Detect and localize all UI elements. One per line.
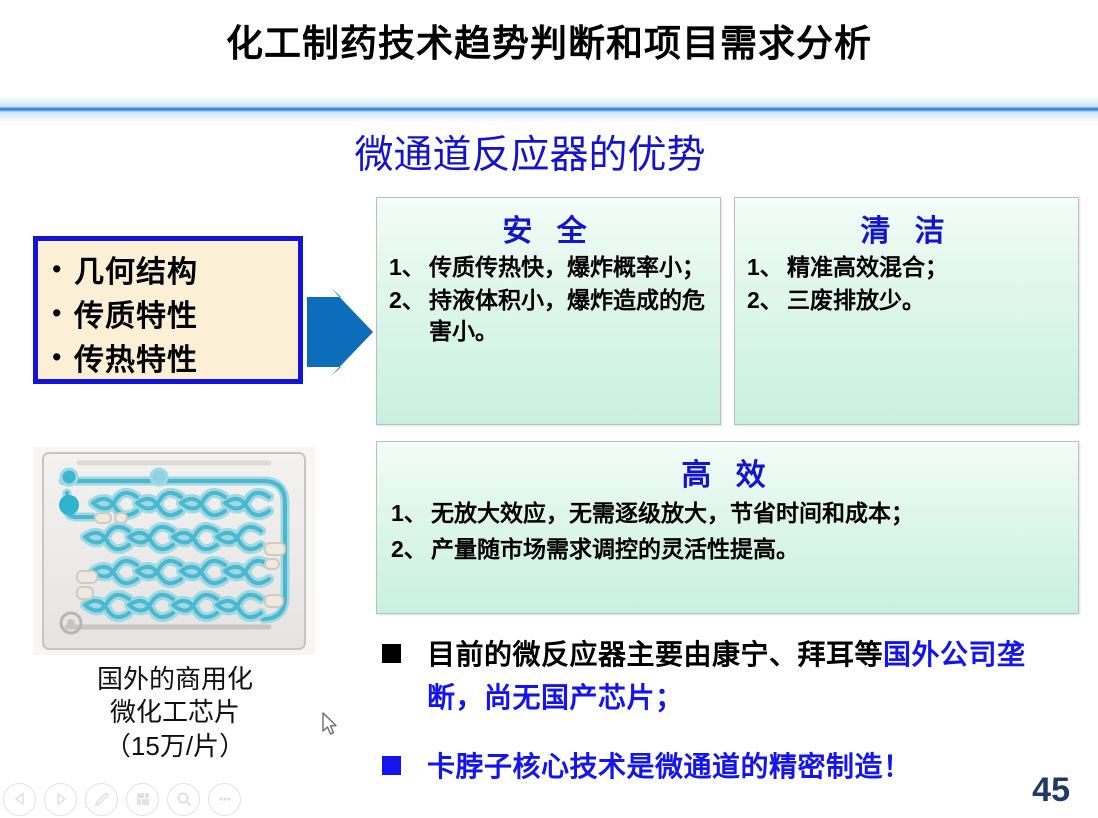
bullet-text: 卡脖子核心技术是微通道的精密制造！ xyxy=(427,745,912,788)
advantage-card-efficient: 高 效 1、 无放大效应，无需逐级放大，节省时间和成本； 2、 产量随市场需求调… xyxy=(376,441,1079,614)
page-number: 45 xyxy=(1032,771,1070,810)
caption-line: 国外的商用化 xyxy=(20,663,330,696)
advantage-list: 1、 无放大效应，无需逐级放大，节省时间和成本； 2、 产量随市场需求调控的灵活… xyxy=(377,496,1078,566)
property-label: 传热特性 xyxy=(74,335,198,379)
item-text: 持液体积小，爆炸造成的危害小。 xyxy=(429,287,705,345)
bullet-monopoly: 目前的微反应器主要由康宁、拜耳等国外公司垄断，尚无国产芯片； xyxy=(382,633,1062,720)
more-options-button[interactable] xyxy=(208,783,241,816)
item-text: 精准高效混合； xyxy=(787,254,948,280)
slides-grid-button[interactable] xyxy=(126,783,159,816)
item-number: 2、 xyxy=(391,532,427,567)
next-slide-button[interactable] xyxy=(44,783,77,816)
more-options-icon xyxy=(216,790,234,808)
advantage-title: 清 洁 xyxy=(735,206,1078,250)
right-arrow-icon xyxy=(305,283,375,381)
list-item: 1、 精准高效混合； xyxy=(747,252,1068,284)
property-label: 几何结构 xyxy=(74,247,198,291)
bullet-text-black: 目前的微反应器主要由康宁、拜耳等 xyxy=(427,639,883,670)
microchannel-chip-image xyxy=(33,447,315,655)
slides-grid-icon xyxy=(134,790,152,808)
advantage-card-safety: 安 全 1、 传质传热快，爆炸概率小； 2、 持液体积小，爆炸造成的危害小。 xyxy=(376,197,721,425)
previous-slide-icon xyxy=(12,791,28,807)
chip-caption: 国外的商用化 微化工芯片 （15万/片） xyxy=(20,663,330,763)
previous-slide-button[interactable] xyxy=(3,783,36,816)
player-toolbar xyxy=(0,780,265,818)
title-divider xyxy=(0,96,1098,122)
square-bullet-icon xyxy=(382,644,401,663)
item-number: 2、 xyxy=(389,285,425,317)
item-number: 1、 xyxy=(747,252,783,284)
list-item: • 传质特性 xyxy=(38,291,298,335)
item-text: 产量随市场需求调控的灵活性提高。 xyxy=(431,536,799,562)
advantage-list: 1、 传质传热快，爆炸概率小； 2、 持液体积小，爆炸造成的危害小。 xyxy=(377,252,720,348)
list-item: • 传热特性 xyxy=(38,335,298,379)
item-number: 1、 xyxy=(389,252,425,284)
property-label: 传质特性 xyxy=(74,291,198,335)
item-number: 1、 xyxy=(391,496,427,531)
pen-icon xyxy=(93,790,111,808)
bullet-icon: • xyxy=(52,300,74,327)
list-item: 2、 三废排放少。 xyxy=(747,285,1068,317)
list-item: • 几何结构 xyxy=(38,247,298,291)
bullet-text: 目前的微反应器主要由康宁、拜耳等国外公司垄断，尚无国产芯片； xyxy=(427,633,1062,720)
item-text: 三废排放少。 xyxy=(787,287,925,313)
list-item: 2、 产量随市场需求调控的灵活性提高。 xyxy=(391,532,1068,567)
pen-button[interactable] xyxy=(85,783,118,816)
bullet-icon: • xyxy=(52,256,74,283)
next-slide-icon xyxy=(53,791,69,807)
section-subtitle: 微通道反应器的优势 xyxy=(0,124,1060,180)
magnifier-button[interactable] xyxy=(167,783,200,816)
item-text: 无放大效应，无需逐级放大，节省时间和成本； xyxy=(431,500,914,526)
list-item: 2、 持液体积小，爆炸造成的危害小。 xyxy=(389,285,710,348)
advantage-title: 安 全 xyxy=(377,206,720,250)
page-title: 化工制药技术趋势判断和项目需求分析 xyxy=(0,22,1098,66)
advantage-card-clean: 清 洁 1、 精准高效混合； 2、 三废排放少。 xyxy=(734,197,1079,425)
magnifier-icon xyxy=(175,790,193,808)
properties-box: • 几何结构 • 传质特性 • 传热特性 xyxy=(33,236,303,384)
mouse-cursor xyxy=(322,712,342,740)
advantage-title: 高 效 xyxy=(377,450,1078,494)
bullet-icon: • xyxy=(52,344,74,371)
advantage-list: 1、 精准高效混合； 2、 三废排放少。 xyxy=(735,252,1078,316)
bullet-core-tech: 卡脖子核心技术是微通道的精密制造！ xyxy=(382,745,1062,788)
item-text: 传质传热快，爆炸概率小； xyxy=(429,254,705,280)
list-item: 1、 传质传热快，爆炸概率小； xyxy=(389,252,710,284)
caption-line: 微化工芯片 xyxy=(20,696,330,729)
caption-line: （15万/片） xyxy=(20,730,330,763)
list-item: 1、 无放大效应，无需逐级放大，节省时间和成本； xyxy=(391,496,1068,531)
square-bullet-icon xyxy=(382,756,401,775)
item-number: 2、 xyxy=(747,285,783,317)
